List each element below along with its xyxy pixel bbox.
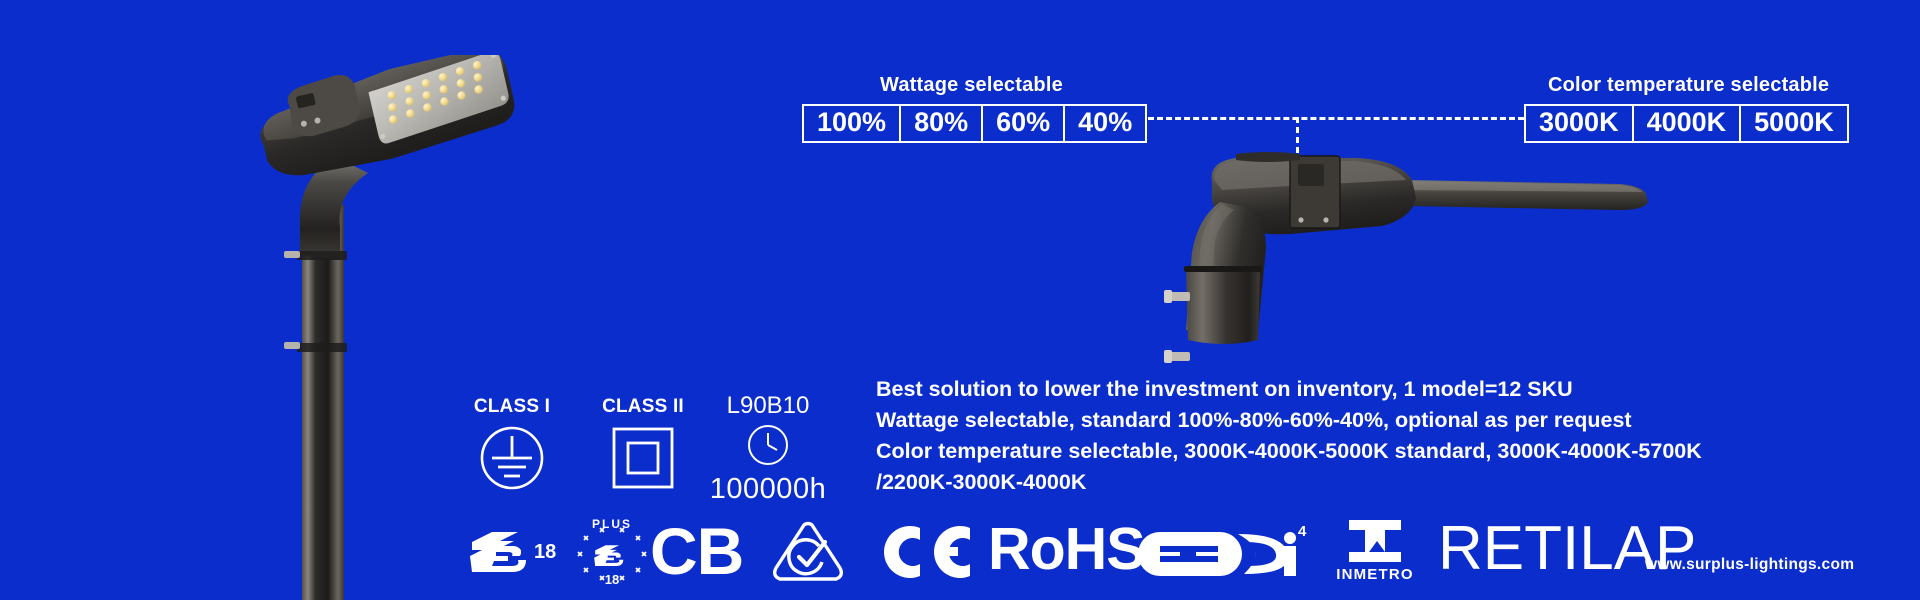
enec-plus-icon: PLUS 18: [570, 516, 654, 590]
cert-rohs: RoHS: [988, 518, 1145, 580]
lifetime-rating-text: L90B10: [727, 392, 810, 419]
website-url[interactable]: www.surplus-lightings.com: [1645, 556, 1854, 574]
copy-line-3: Color temperature selectable, 3000K-4000…: [876, 436, 1706, 467]
cert-enec: 18: [462, 522, 562, 584]
enec-plus-text: PLUS: [592, 517, 632, 531]
rohs-icon: RoHS: [988, 516, 1145, 582]
product-image-left: [240, 55, 540, 600]
enec-icon: 18: [462, 522, 562, 584]
cct-selector-row[interactable]: 3000K 4000K 5000K: [1524, 104, 1849, 143]
enec-plus-year-text: 18: [605, 572, 619, 587]
banner-canvas: Wattage selectable 100% 80% 60% 40% Colo…: [0, 0, 1920, 600]
svg-text:4: 4: [1298, 523, 1307, 540]
wattage-option-40[interactable]: 40%: [1065, 106, 1145, 141]
cert-cb: CB: [650, 518, 743, 584]
class-two-badge: CLASS II: [580, 396, 706, 497]
clock-icon: [746, 423, 790, 467]
connector-line-vertical: [1296, 117, 1299, 153]
inmetro-label: INMETRO: [1320, 566, 1430, 583]
cert-enec-plus: PLUS 18: [570, 516, 654, 590]
inmetro-icon: [1343, 518, 1407, 564]
website-text: www.surplus-lightings.com: [1645, 556, 1854, 573]
product-image-right: [1150, 140, 1670, 370]
wattage-option-100[interactable]: 100%: [804, 106, 901, 141]
wattage-option-60[interactable]: 60%: [983, 106, 1065, 141]
cert-zd4i: 4: [1138, 522, 1308, 584]
class-one-label: CLASS I: [452, 396, 572, 418]
lifetime-hours: 100000h: [700, 473, 836, 506]
class-two-label: CLASS II: [580, 396, 706, 418]
cct-callout-label: Color temperature selectable: [1548, 74, 1849, 97]
cert-ce: [878, 520, 974, 584]
lifetime-rating-label: L90B10: [700, 392, 836, 420]
enec-year-text: 18: [534, 541, 556, 563]
wattage-callout-label: Wattage selectable: [880, 74, 1147, 97]
cert-inmetro: INMETRO: [1320, 518, 1430, 588]
wattage-option-80[interactable]: 80%: [901, 106, 983, 141]
copy-line-4: /2200K-3000K-4000K: [876, 467, 1706, 498]
cct-option-5000k[interactable]: 5000K: [1741, 106, 1847, 141]
double-insulation-icon: [609, 424, 677, 492]
zd4i-icon: 4: [1138, 522, 1308, 584]
protective-earth-icon: [478, 424, 546, 492]
ce-icon: [878, 520, 974, 584]
lifetime-badge: L90B10 100000h: [700, 392, 836, 506]
marketing-copy: Best solution to lower the investment on…: [876, 374, 1706, 498]
rcm-icon: [770, 518, 846, 586]
cct-option-4000k[interactable]: 4000K: [1634, 106, 1742, 141]
copy-line-1: Best solution to lower the investment on…: [876, 374, 1706, 405]
cct-option-3000k[interactable]: 3000K: [1526, 106, 1634, 141]
cert-rcm: [770, 518, 846, 586]
cct-callout: Color temperature selectable 3000K 4000K…: [1524, 74, 1849, 143]
connector-line-horizontal: [1148, 117, 1524, 120]
class-one-badge: CLASS I: [452, 396, 572, 497]
copy-line-2: Wattage selectable, standard 100%-80%-60…: [876, 405, 1706, 436]
wattage-selector-row[interactable]: 100% 80% 60% 40%: [802, 104, 1147, 143]
wattage-callout: Wattage selectable 100% 80% 60% 40%: [802, 74, 1147, 143]
cb-icon: CB: [650, 514, 743, 588]
